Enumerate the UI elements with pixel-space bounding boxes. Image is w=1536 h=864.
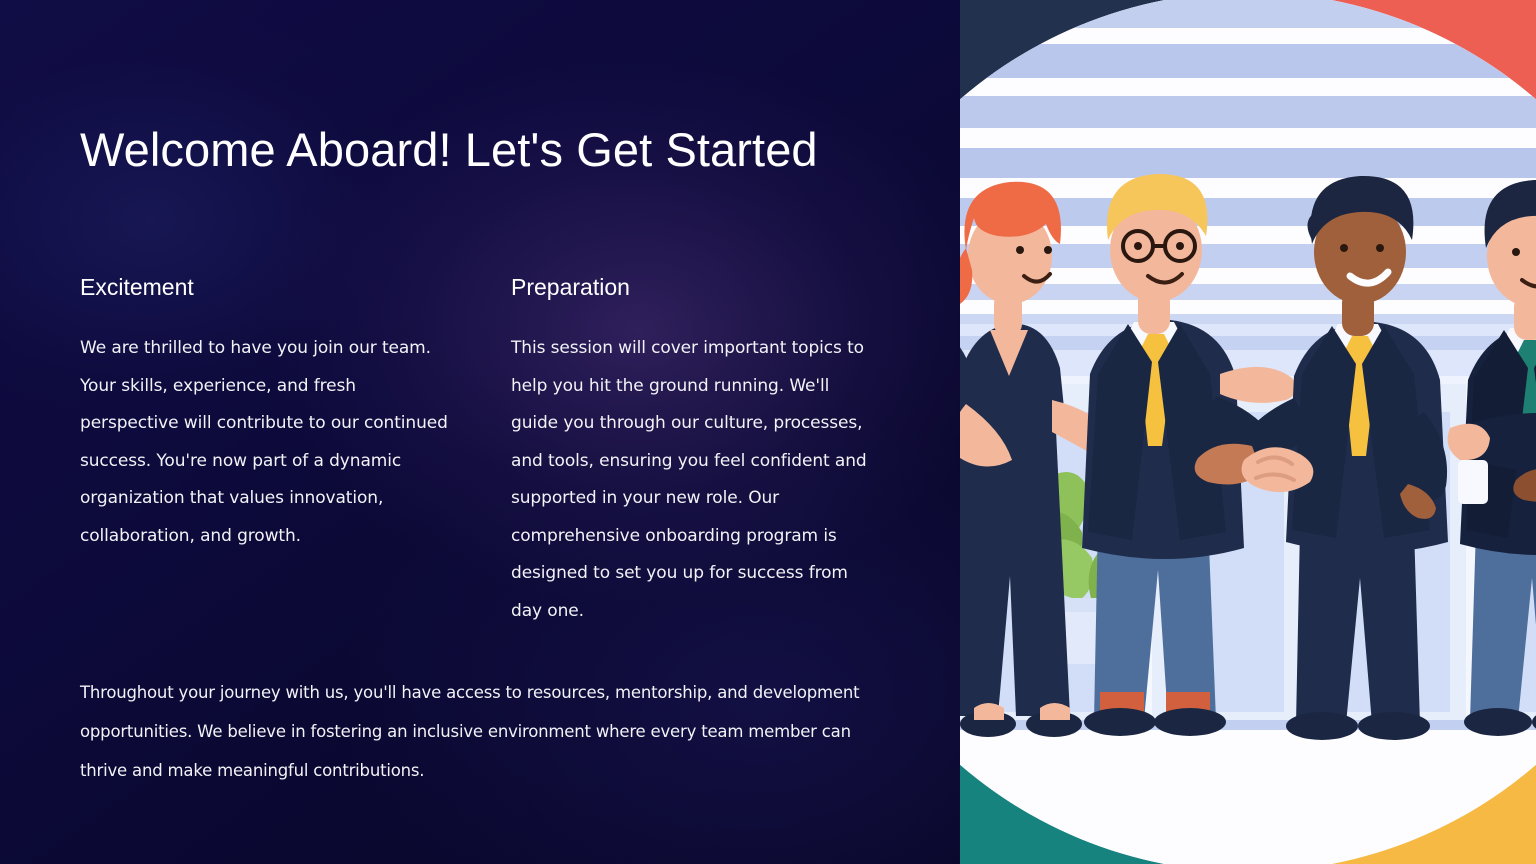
column-body-preparation: This session will cover important topics… (511, 330, 880, 630)
footer-paragraph: Throughout your journey with us, you'll … (80, 673, 880, 790)
column-body-excitement: We are thrilled to have you join our tea… (80, 330, 449, 555)
illustration-panel (960, 0, 1536, 864)
column-preparation: Preparation This session will cover impo… (511, 272, 880, 630)
slide-welcome-aboard: Welcome Aboard! Let's Get Started Excite… (0, 0, 1536, 864)
business-team-handshake-illustration (960, 0, 1536, 864)
circular-photo-frame (960, 0, 1536, 864)
two-column-text-block: Excitement We are thrilled to have you j… (80, 272, 880, 630)
column-heading-preparation: Preparation (511, 272, 880, 302)
page-title: Welcome Aboard! Let's Get Started (80, 115, 840, 185)
column-excitement: Excitement We are thrilled to have you j… (80, 272, 449, 630)
column-heading-excitement: Excitement (80, 272, 449, 302)
content-panel: Welcome Aboard! Let's Get Started Excite… (0, 0, 960, 864)
